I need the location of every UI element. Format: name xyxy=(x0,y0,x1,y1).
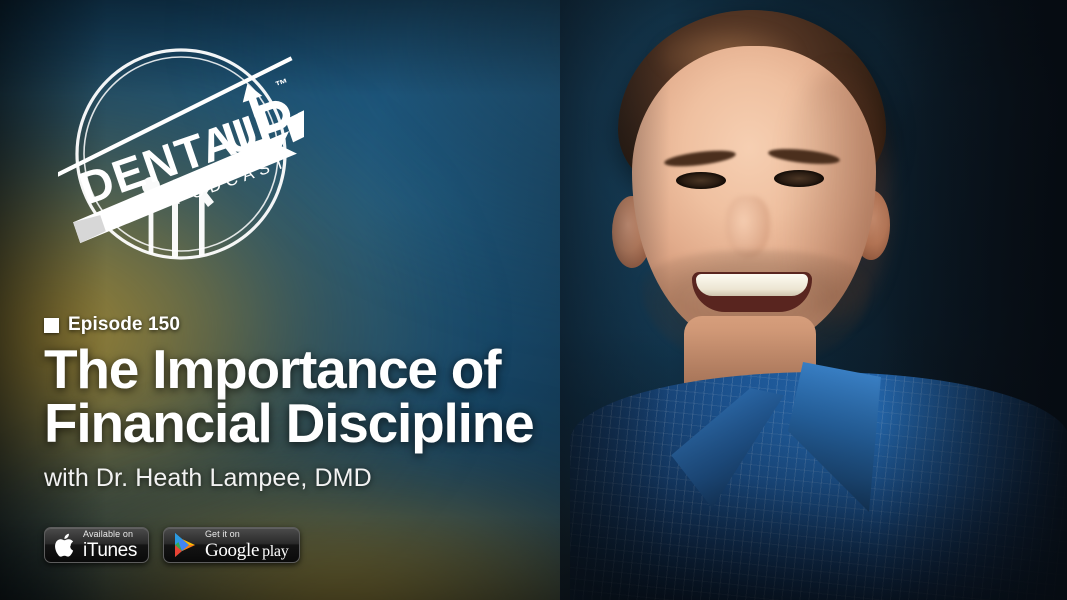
podcast-episode-cover: DENTAL U ™ PODCAST Episode 150 The Impor… xyxy=(0,0,1067,600)
itunes-badge-text: Available on iTunes xyxy=(83,530,137,560)
itunes-badge-button[interactable]: Available on iTunes xyxy=(44,527,149,563)
google-play-triangle-icon xyxy=(173,532,197,558)
square-bullet-icon xyxy=(44,318,59,333)
store-badges: Available on iTunes Get it on G xyxy=(44,527,300,563)
google-play-badge-button[interactable]: Get it on Google play xyxy=(163,527,301,563)
episode-text-block: Episode 150 The Importance of Financial … xyxy=(44,314,664,493)
portrait-smile xyxy=(692,272,812,312)
portrait-right-fade xyxy=(877,0,1067,600)
portrait-eye-left xyxy=(676,172,726,189)
logo-mark-icon: DENTAL U ™ PODCAST xyxy=(58,34,304,284)
episode-title: The Importance of Financial Discipline xyxy=(44,342,664,451)
apple-icon xyxy=(54,533,75,558)
portrait-eye-right xyxy=(774,170,824,187)
itunes-badge-big-text: iTunes xyxy=(83,541,137,560)
guest-portrait-photo xyxy=(560,0,1067,600)
google-play-badge-big-text: Google play xyxy=(205,541,289,560)
episode-title-line-1: The Importance of xyxy=(44,338,500,400)
itunes-badge-small-text: Available on xyxy=(83,530,137,539)
google-play-badge-small-text: Get it on xyxy=(205,530,289,539)
google-play-word-play: play xyxy=(262,544,288,560)
google-play-word-google: Google xyxy=(205,541,259,560)
google-play-badge-text: Get it on Google play xyxy=(205,530,289,560)
dental-up-podcast-logo: DENTAL U ™ PODCAST xyxy=(58,34,304,284)
episode-number-label: Episode 150 xyxy=(68,314,180,336)
guest-byline: with Dr. Heath Lampee, DMD xyxy=(44,464,664,493)
episode-row: Episode 150 xyxy=(44,314,664,336)
portrait-teeth xyxy=(696,274,808,296)
portrait-left-fade xyxy=(560,0,670,600)
portrait-nose xyxy=(726,196,770,258)
episode-title-line-2: Financial Discipline xyxy=(44,396,664,450)
